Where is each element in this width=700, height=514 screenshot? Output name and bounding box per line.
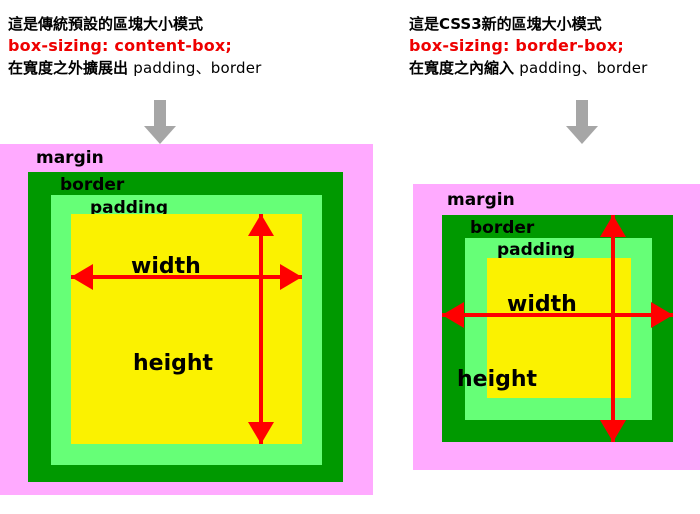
height-label: height (457, 369, 537, 391)
height-measure-bar (611, 215, 615, 442)
height-measure-tip-bottom (600, 420, 626, 442)
left-caption-line-3: 在寬度之外擴展出 padding、border (8, 58, 262, 79)
right-caption-code: box-sizing: border-box; (409, 35, 648, 58)
height-label: height (133, 353, 213, 375)
left-caption-code: box-sizing: content-box; (8, 35, 262, 58)
arrow-head (566, 126, 598, 144)
left-caption-block: 這是傳統預設的區塊大小模式 box-sizing: content-box; 在… (8, 14, 262, 79)
content-box-diagram: margin border padding width height (0, 144, 373, 495)
right-caption-line-3-prefix: 在寬度之內縮入 (409, 59, 519, 77)
width-measure-tip-right (280, 264, 302, 290)
height-measure-tip-bottom (248, 422, 274, 444)
height-measure-bar (259, 214, 263, 444)
arrow-down-icon (144, 100, 176, 144)
width-measure-tip-right (651, 302, 673, 328)
left-caption-line-3-mono: padding、border (133, 59, 261, 77)
border-box-diagram: margin border padding width height (413, 184, 700, 470)
right-caption-line-3: 在寬度之內縮入 padding、border (409, 58, 648, 79)
margin-label: margin (36, 150, 104, 167)
right-caption-line-3-mono: padding、border (519, 59, 647, 77)
arrow-down-icon (566, 100, 598, 144)
arrow-head (144, 126, 176, 144)
right-caption-line-1: 這是CSS3新的區塊大小模式 (409, 14, 648, 35)
arrow-shaft (576, 100, 588, 126)
width-label: width (507, 294, 577, 316)
height-measure-tip-top (248, 214, 274, 236)
height-measure-tip-top (600, 215, 626, 237)
border-label: border (60, 177, 124, 194)
border-label: border (470, 220, 534, 237)
width-label: width (131, 256, 201, 278)
padding-label: padding (497, 242, 575, 259)
width-measure-tip-left (71, 264, 93, 290)
height-measure-arrow (248, 214, 274, 444)
arrow-shaft (154, 100, 166, 126)
left-caption-line-3-prefix: 在寬度之外擴展出 (8, 59, 133, 77)
right-caption-block: 這是CSS3新的區塊大小模式 box-sizing: border-box; 在… (409, 14, 648, 79)
height-measure-arrow (600, 215, 626, 442)
left-caption-line-1: 這是傳統預設的區塊大小模式 (8, 14, 262, 35)
margin-label: margin (447, 192, 515, 209)
width-measure-tip-left (442, 302, 464, 328)
